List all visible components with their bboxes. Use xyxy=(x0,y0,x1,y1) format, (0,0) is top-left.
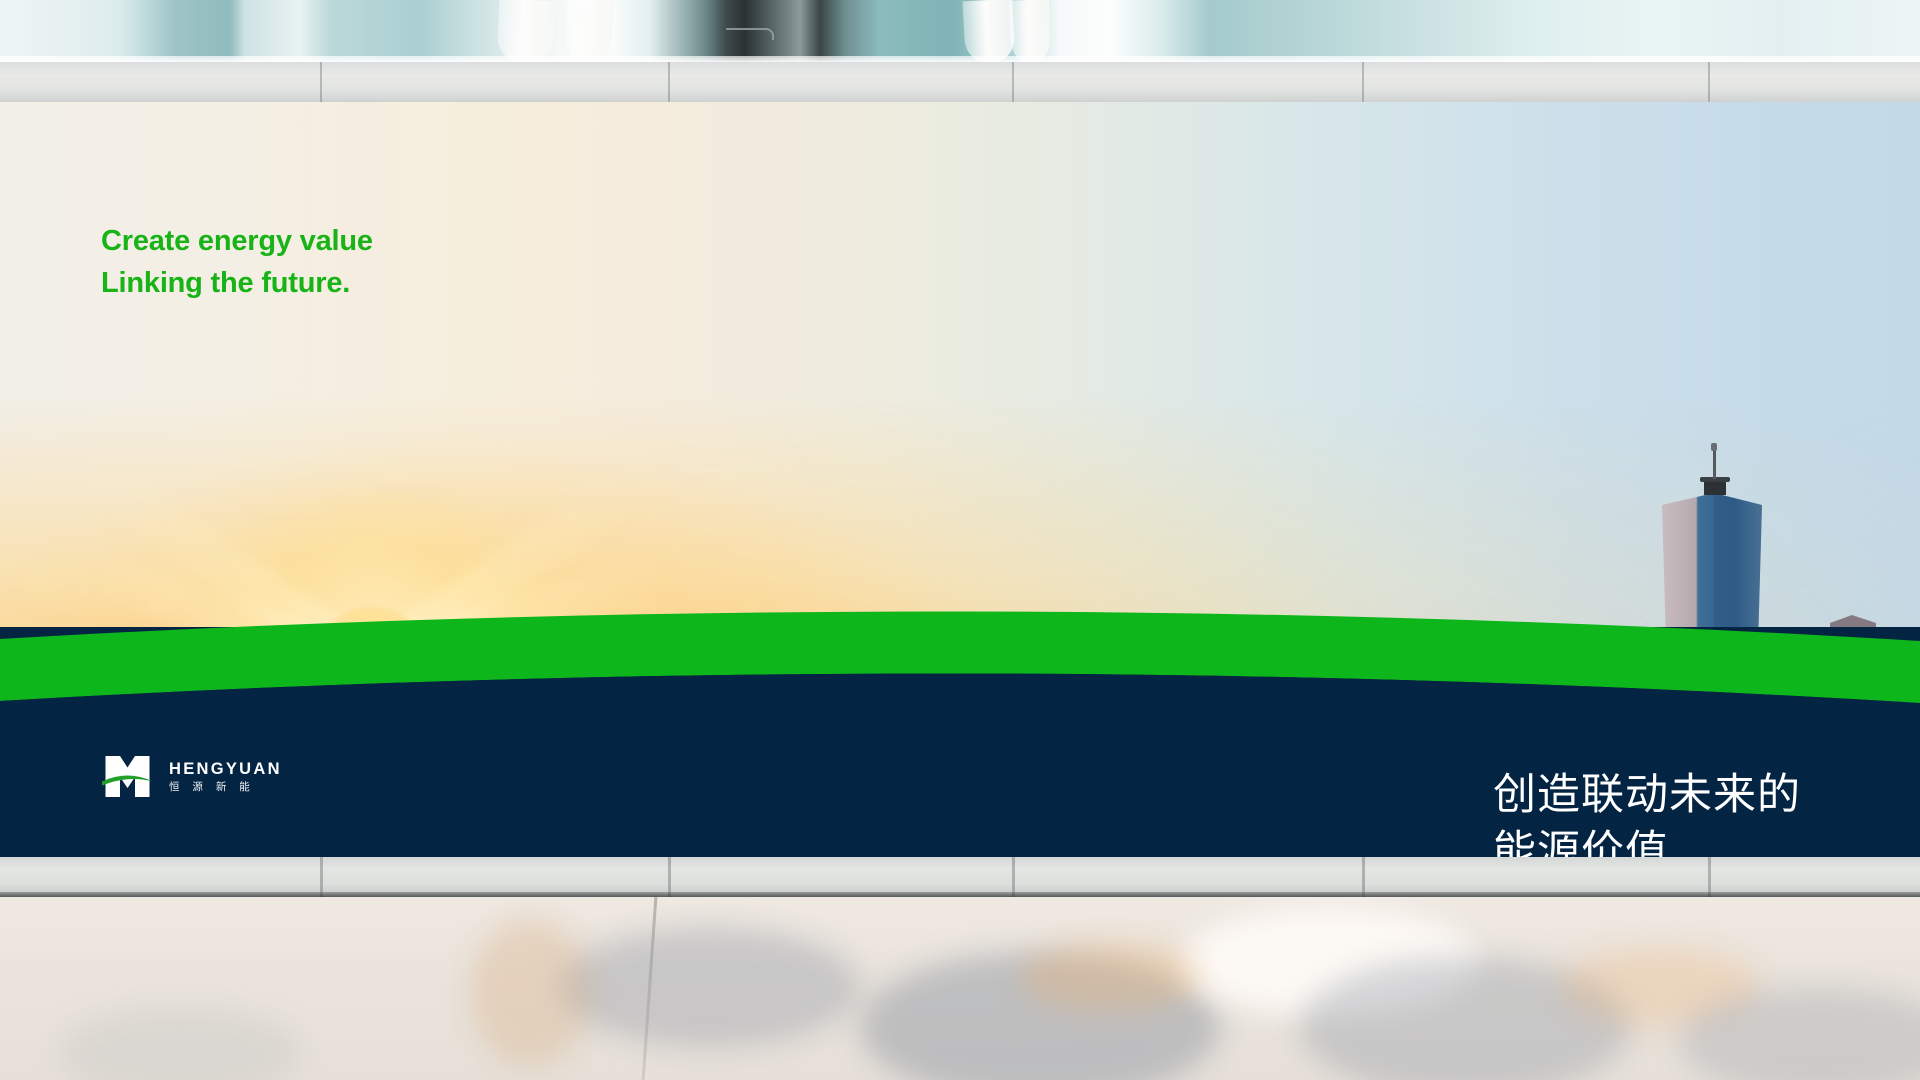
billboard-scene: Create energy value Linking the future. … xyxy=(0,0,1920,1080)
hengyuan-logo-mark xyxy=(101,750,154,803)
concrete-floor xyxy=(0,897,1920,1080)
upper-concrete-ledge xyxy=(0,62,1920,102)
facade-column-right xyxy=(962,0,1015,63)
wordmark: HENGYUAN 恒 源 新 能 xyxy=(169,761,282,792)
facade-handrail xyxy=(726,28,774,40)
glass-facade xyxy=(0,0,1920,62)
wordmark-en: HENGYUAN xyxy=(169,761,282,778)
billboard-panel: Create energy value Linking the future. … xyxy=(0,102,1920,857)
lower-concrete-ledge xyxy=(0,857,1920,897)
chinese-headline-line-2: 能源价值 xyxy=(1493,824,1801,857)
facade-column-right-2 xyxy=(1009,0,1051,63)
tagline-line-2: Linking the future. xyxy=(101,262,373,304)
logo-lockup: HENGYUAN 恒 源 新 能 xyxy=(101,750,282,803)
chinese-headline: 创造联动未来的 能源价值 xyxy=(1493,767,1801,857)
facade-column-left-2 xyxy=(564,0,613,63)
tagline: Create energy value Linking the future. xyxy=(101,220,373,304)
facade-column-left xyxy=(497,0,556,63)
chinese-headline-line-1: 创造联动未来的 xyxy=(1493,767,1801,824)
tagline-line-1: Create energy value xyxy=(101,220,373,262)
wordmark-cn: 恒 源 新 能 xyxy=(169,782,282,793)
